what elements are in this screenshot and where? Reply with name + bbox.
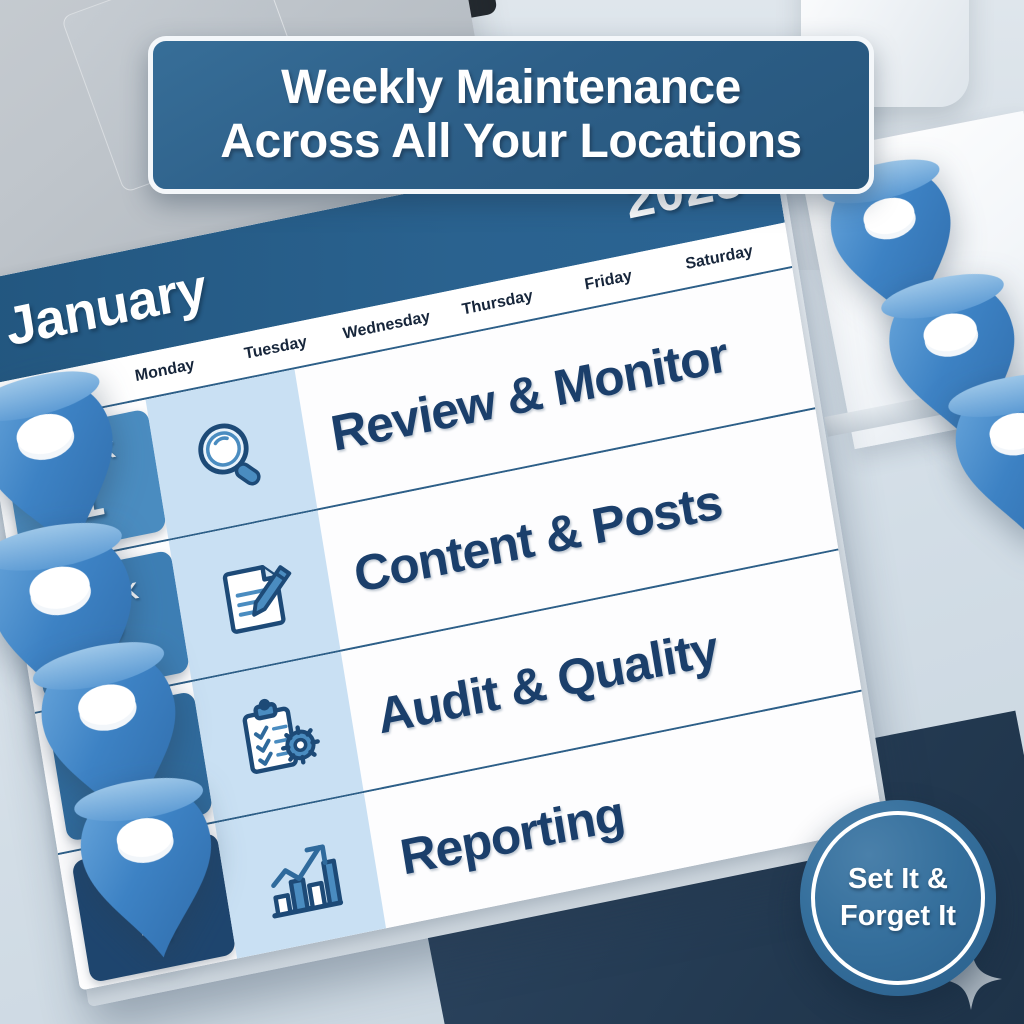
document-pen-icon	[169, 510, 341, 680]
map-pin-4	[62, 765, 238, 978]
clipboard-gear-icon	[192, 652, 364, 822]
calendar-day-name-thursday: Thursday	[441, 283, 555, 323]
headline-banner: Weekly Maintenance Across All Your Locat…	[148, 36, 874, 194]
task-label: Reporting	[396, 783, 628, 886]
calendar-day-name-friday: Friday	[551, 261, 665, 301]
calendar-day-name-tuesday: Tuesday	[219, 328, 333, 368]
calendar-day-name-wednesday: Wednesday	[330, 306, 444, 346]
badge-line-1: Set It &	[848, 861, 948, 898]
headline-line-1: Weekly Maintenance	[281, 61, 741, 115]
set-it-forget-it-badge[interactable]: Set It & Forget It	[800, 800, 996, 996]
calendar-month-label: January	[1, 257, 211, 359]
badge-line-2: Forget It	[840, 898, 956, 935]
calendar-day-name-saturday: Saturday	[662, 238, 776, 278]
headline-line-2: Across All Your Locations	[220, 115, 801, 169]
task-label: Audit & Quality	[373, 619, 722, 745]
magnifier-icon	[146, 369, 318, 539]
scene: Weekly Maintenance Across All Your Locat…	[0, 0, 1024, 1024]
calendar-day-name-monday: Monday	[108, 351, 222, 391]
